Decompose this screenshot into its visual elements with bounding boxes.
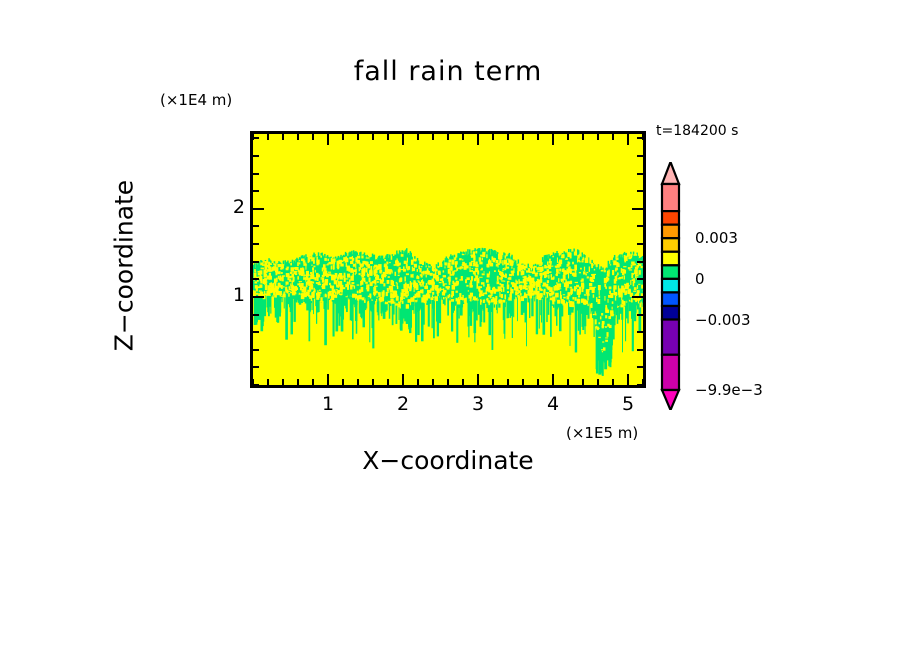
x-tick-label: 3 (463, 393, 493, 415)
y-minor-tick-right (637, 384, 643, 386)
x-minor-tick (567, 379, 569, 385)
x-minor-tick (492, 379, 494, 385)
y-minor-tick-right (637, 366, 643, 368)
y-minor-tick (253, 331, 259, 333)
x-major-tick-top (627, 134, 629, 145)
y-minor-tick-right (637, 137, 643, 139)
colorbar-tick-label: 0.003 (695, 229, 738, 247)
colorbar-band-purple (662, 320, 679, 355)
x-major-tick-top (327, 134, 329, 145)
x-major-tick-top (552, 134, 554, 145)
x-minor-tick-top (432, 134, 434, 140)
y-tick-label: 1 (219, 284, 245, 306)
x-minor-tick (582, 379, 584, 385)
x-minor-tick (507, 379, 509, 385)
x-minor-tick-top (312, 134, 314, 140)
x-minor-tick-top (297, 134, 299, 140)
colorbar-overflow-arrow (662, 162, 679, 184)
y-major-tick (253, 208, 264, 210)
colorbar-band-blue (662, 292, 679, 306)
y-axis-unit-label: (×1E4 m) (160, 91, 232, 109)
x-major-tick (627, 374, 629, 385)
x-minor-tick-top (492, 134, 494, 140)
y-minor-tick (253, 173, 259, 175)
x-minor-tick-top (567, 134, 569, 140)
x-major-tick (477, 374, 479, 385)
x-minor-tick-top (417, 134, 419, 140)
plot-area (250, 131, 646, 388)
colorbar-tick-label: 0 (695, 270, 705, 288)
x-minor-tick-top (357, 134, 359, 140)
y-minor-tick (253, 243, 259, 245)
x-minor-tick (612, 379, 614, 385)
colorbar-band-yellow (662, 252, 679, 266)
x-minor-tick (462, 379, 464, 385)
y-minor-tick (253, 349, 259, 351)
x-minor-tick-top (597, 134, 599, 140)
x-minor-tick-top (612, 134, 614, 140)
y-minor-tick (253, 155, 259, 157)
x-tick-label: 2 (388, 393, 418, 415)
x-minor-tick (357, 379, 359, 385)
y-minor-tick (253, 278, 259, 280)
y-minor-tick (253, 366, 259, 368)
colorbar-swatches (658, 162, 694, 410)
x-minor-tick (312, 379, 314, 385)
x-minor-tick (417, 379, 419, 385)
y-minor-tick-right (637, 225, 643, 227)
colorbar-band-cyan (662, 279, 679, 293)
y-tick-label: 2 (219, 196, 245, 218)
field-canvas (253, 134, 643, 385)
colorbar-band-salmon (662, 184, 679, 211)
x-minor-tick-top (282, 134, 284, 140)
y-minor-tick-right (637, 331, 643, 333)
x-minor-tick-top (522, 134, 524, 140)
x-minor-tick (297, 379, 299, 385)
y-minor-tick (253, 384, 259, 386)
x-minor-tick (447, 379, 449, 385)
x-major-tick (327, 374, 329, 385)
x-minor-tick-top (267, 134, 269, 140)
colorbar-underflow-arrow (662, 390, 679, 410)
y-minor-tick-right (637, 190, 643, 192)
x-minor-tick (537, 379, 539, 385)
x-major-tick-top (402, 134, 404, 145)
y-minor-tick-right (637, 349, 643, 351)
x-tick-label: 1 (313, 393, 343, 415)
time-annotation: t=184200 s (656, 123, 738, 139)
x-minor-tick (282, 379, 284, 385)
colorbar: 0.0030−0.003−9.9e−3 (658, 162, 788, 410)
y-minor-tick-right (637, 173, 643, 175)
x-minor-tick-top (447, 134, 449, 140)
y-minor-tick (253, 314, 259, 316)
y-minor-tick-right (637, 261, 643, 263)
x-minor-tick (267, 379, 269, 385)
x-minor-tick-top (342, 134, 344, 140)
x-tick-label: 4 (538, 393, 568, 415)
y-major-tick (253, 296, 264, 298)
y-minor-tick (253, 261, 259, 263)
y-minor-tick (253, 225, 259, 227)
x-minor-tick-top (582, 134, 584, 140)
x-major-tick (402, 374, 404, 385)
x-minor-tick (432, 379, 434, 385)
x-minor-tick-top (537, 134, 539, 140)
colorbar-band-magenta (662, 355, 679, 390)
y-minor-tick-right (637, 278, 643, 280)
x-minor-tick-top (507, 134, 509, 140)
y-minor-tick-right (637, 155, 643, 157)
colorbar-tick-label: −0.003 (695, 311, 751, 329)
x-minor-tick (597, 379, 599, 385)
colorbar-band-amber (662, 238, 679, 252)
x-minor-tick-top (372, 134, 374, 140)
x-minor-tick (372, 379, 374, 385)
y-axis-title: Z−coordinate (110, 136, 139, 396)
y-major-tick-right (632, 296, 643, 298)
x-minor-tick-top (387, 134, 389, 140)
x-major-tick-top (477, 134, 479, 145)
plot-figure: fall rain term (×1E4 m) t=184200 s 12345… (0, 0, 904, 654)
colorbar-band-orange-red (662, 211, 679, 225)
y-minor-tick (253, 190, 259, 192)
colorbar-band-orange (662, 225, 679, 239)
x-minor-tick (387, 379, 389, 385)
x-minor-tick (522, 379, 524, 385)
x-minor-tick (342, 379, 344, 385)
page-title: fall rain term (250, 56, 646, 87)
x-tick-label: 5 (613, 393, 643, 415)
x-axis-title: X−coordinate (248, 446, 648, 475)
colorbar-band-navy (662, 306, 679, 320)
x-axis-unit-label: (×1E5 m) (566, 424, 638, 442)
colorbar-band-green (662, 265, 679, 279)
x-major-tick (552, 374, 554, 385)
x-minor-tick-top (462, 134, 464, 140)
y-minor-tick-right (637, 314, 643, 316)
y-major-tick-right (632, 208, 643, 210)
colorbar-tick-label: −9.9e−3 (695, 381, 763, 399)
y-minor-tick (253, 137, 259, 139)
y-minor-tick-right (637, 243, 643, 245)
